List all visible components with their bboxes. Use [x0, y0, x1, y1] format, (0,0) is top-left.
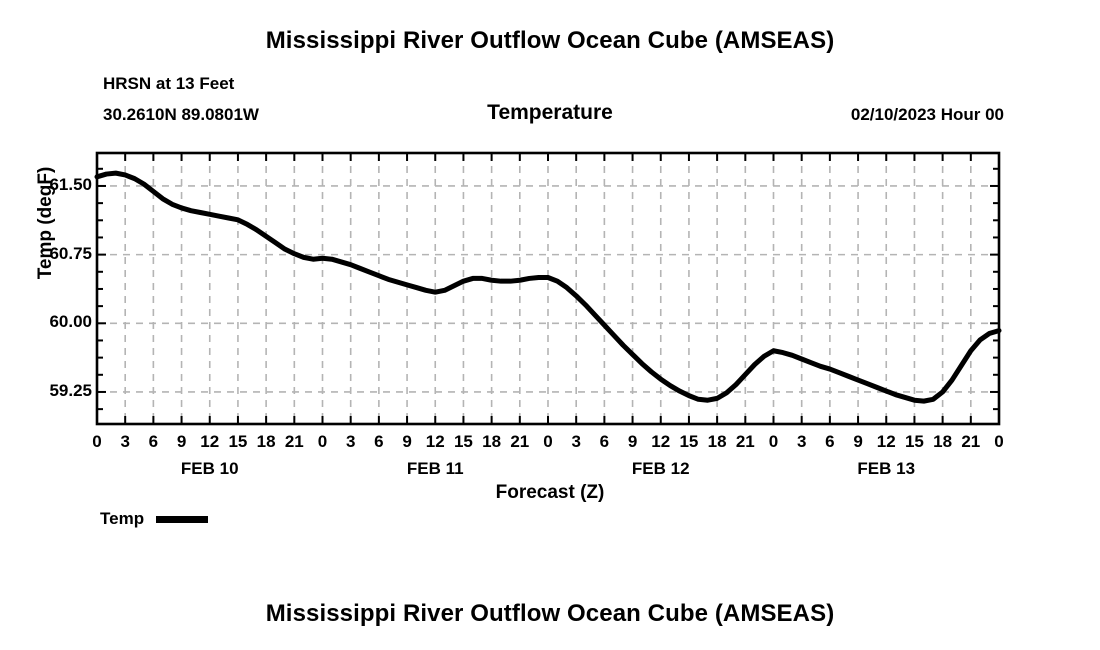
x-axis-tick-label: 9 — [618, 432, 648, 452]
x-axis-tick-label: 9 — [167, 432, 197, 452]
x-axis-tick-label: 6 — [815, 432, 845, 452]
x-axis-tick-label: 12 — [871, 432, 901, 452]
x-axis-tick-label: 3 — [787, 432, 817, 452]
x-axis-day-label: FEB 13 — [826, 459, 946, 479]
x-axis-tick-label: 3 — [336, 432, 366, 452]
x-axis-tick-label: 0 — [82, 432, 112, 452]
x-axis-tick-label: 0 — [759, 432, 789, 452]
page-title-bottom: Mississippi River Outflow Ocean Cube (AM… — [0, 600, 1100, 628]
x-axis-tick-label: 21 — [279, 432, 309, 452]
x-axis-tick-label: 6 — [138, 432, 168, 452]
x-axis-tick-label: 15 — [674, 432, 704, 452]
x-axis-tick-label: 21 — [730, 432, 760, 452]
x-axis-tick-label: 9 — [392, 432, 422, 452]
x-axis-tick-label: 18 — [702, 432, 732, 452]
x-axis-tick-label: 15 — [448, 432, 478, 452]
x-axis-tick-label: 18 — [928, 432, 958, 452]
x-axis-tick-label: 0 — [308, 432, 338, 452]
x-axis-day-label: FEB 12 — [601, 459, 721, 479]
x-axis-day-label: FEB 10 — [150, 459, 270, 479]
temperature-chart — [0, 0, 1100, 650]
x-axis-tick-label: 12 — [646, 432, 676, 452]
x-axis-tick-label: 18 — [251, 432, 281, 452]
x-axis-day-label: FEB 11 — [375, 459, 495, 479]
x-axis-tick-label: 6 — [364, 432, 394, 452]
x-axis-title: Forecast (Z) — [0, 482, 1100, 504]
x-axis-tick-label: 21 — [505, 432, 535, 452]
legend-line-swatch-temp — [156, 516, 208, 523]
x-axis-tick-label: 21 — [956, 432, 986, 452]
x-axis-tick-label: 15 — [899, 432, 929, 452]
x-axis-tick-label: 0 — [984, 432, 1014, 452]
x-axis-tick-label: 15 — [223, 432, 253, 452]
x-axis-tick-label: 3 — [561, 432, 591, 452]
x-axis-tick-label: 3 — [110, 432, 140, 452]
x-axis-tick-label: 18 — [477, 432, 507, 452]
x-axis-tick-label: 12 — [195, 432, 225, 452]
x-axis-tick-label: 6 — [589, 432, 619, 452]
x-axis-tick-label: 0 — [533, 432, 563, 452]
chart-legend: Temp — [100, 509, 208, 529]
x-axis-tick-label: 9 — [843, 432, 873, 452]
x-axis-tick-label: 12 — [420, 432, 450, 452]
legend-label-temp: Temp — [100, 509, 144, 529]
